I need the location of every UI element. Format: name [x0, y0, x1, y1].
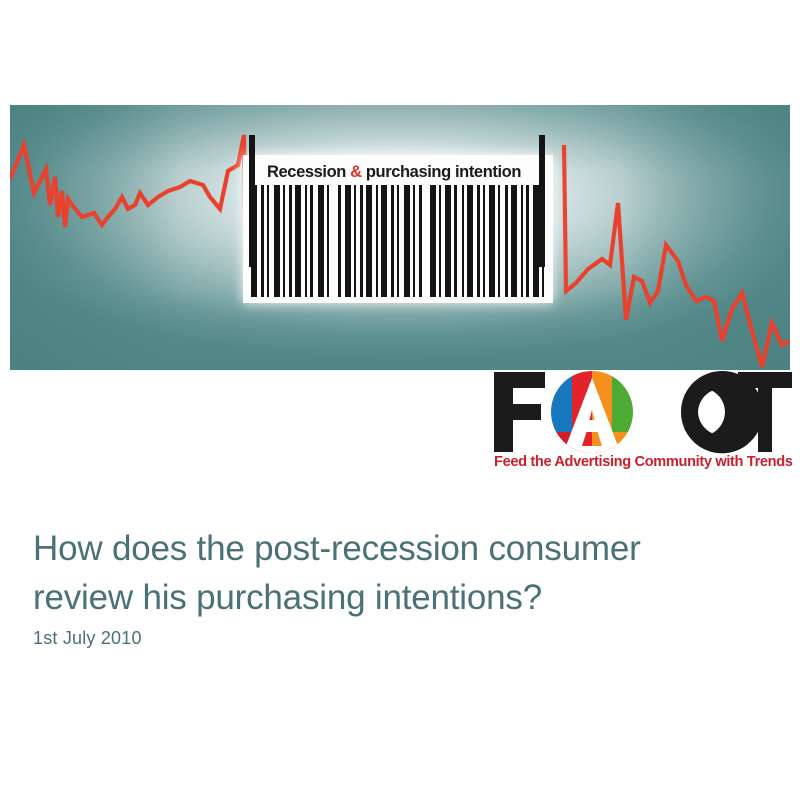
barcode-bar [419, 185, 422, 297]
barcode-bar [274, 185, 280, 297]
barcode-bar [376, 185, 378, 297]
barcode-bar [526, 185, 529, 297]
presentation-date: 1st July 2010 [33, 628, 142, 649]
barcode-bar [467, 185, 473, 297]
barcode-bar [295, 185, 301, 297]
barcode-bar [521, 185, 523, 297]
barcode-bar [489, 185, 495, 297]
barcode-bar [511, 185, 517, 297]
barcode-bar [542, 185, 544, 297]
barcode-bar [366, 185, 372, 297]
barcode-bar [454, 185, 457, 297]
barcode-bar [327, 185, 329, 297]
barcode-bar [251, 185, 257, 297]
barcode-bar [477, 185, 480, 297]
page-title-line-2: review his purchasing intentions? [33, 573, 763, 622]
barcode-bar [533, 185, 539, 297]
barcode-bar [397, 185, 399, 297]
barcode-bar [498, 185, 500, 297]
page-title-line-1: How does the post-recession consumer [33, 524, 763, 573]
barcode-bar [445, 185, 451, 297]
barcode-bar [404, 185, 410, 297]
hero-banner: Recession & purchasing intention [10, 105, 790, 370]
barcode-bar [354, 185, 356, 297]
barcode-bar [439, 185, 441, 297]
barcode-bar [360, 185, 363, 297]
barcode-bar [338, 185, 341, 297]
fact-wordmark [492, 370, 792, 454]
barcode-bar [381, 185, 387, 297]
barcode-bar [462, 185, 464, 297]
barcode-bar [305, 185, 307, 297]
barcode-bar [261, 185, 264, 297]
fact-logo: Feed the Advertising Community with Tren… [492, 370, 792, 478]
page-title: How does the post-recession consumer rev… [33, 524, 763, 622]
barcode-bars [251, 185, 545, 297]
barcode-bar [430, 185, 436, 297]
barcode-caption-suffix: purchasing intention [362, 163, 521, 181]
logo-letter-a-wheel [551, 371, 634, 454]
barcode-bar [318, 185, 324, 297]
barcode-bar [267, 185, 269, 297]
barcode-bar [413, 185, 415, 297]
barcode-caption-ampersand: & [350, 163, 362, 181]
barcode-bar [310, 185, 313, 297]
barcode-bar [391, 185, 394, 297]
barcode-bar [505, 185, 508, 297]
logo-tagline: Feed the Advertising Community with Tren… [494, 454, 792, 470]
barcode-bar [483, 185, 485, 297]
barcode-caption-prefix: Recession [267, 163, 350, 181]
barcode-caption: Recession & purchasing intention [267, 161, 533, 183]
logo-letter-f [494, 372, 545, 452]
barcode-graphic: Recession & purchasing intention [243, 155, 553, 303]
barcode-bar [289, 185, 292, 297]
barcode-bar [283, 185, 285, 297]
barcode-bar [345, 185, 351, 297]
